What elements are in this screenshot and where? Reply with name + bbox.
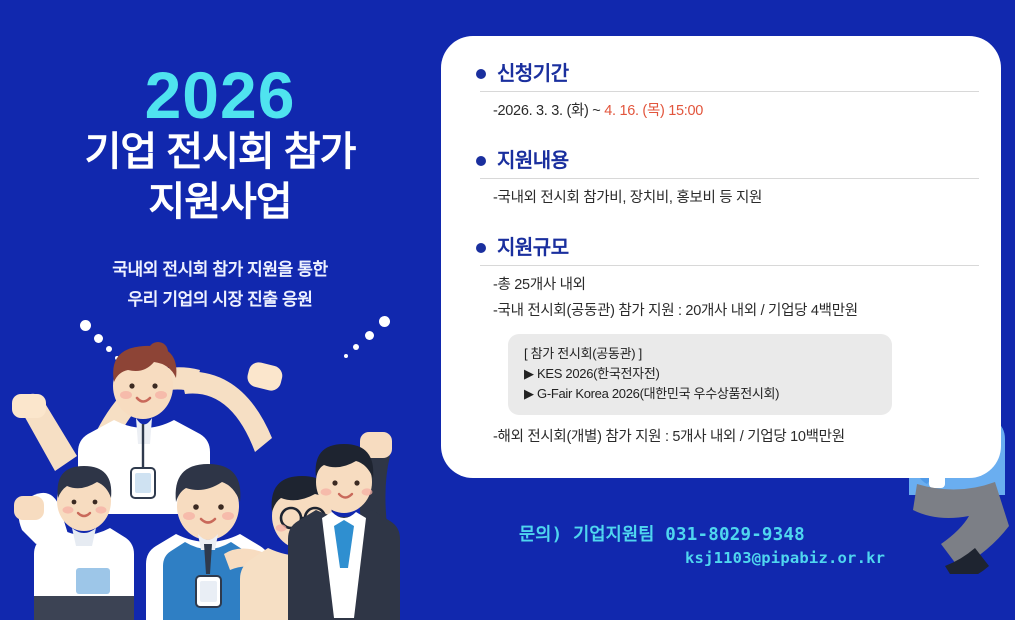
section-divider: [480, 91, 979, 92]
bullet-dot-icon: [476, 69, 486, 79]
period-deadline: 4. 16. (목) 15:00: [604, 103, 703, 119]
section-application-period: 신청기간 -2026. 3. 3. (화) ~ 4. 16. (목) 15:00: [467, 62, 979, 123]
section-header: 신청기간: [467, 62, 979, 86]
exhibition-list-title: [ 참가 전시회(공동관) ]: [524, 344, 876, 364]
section-header: 지원내용: [467, 149, 979, 173]
headline-line-2: 지원사업: [0, 178, 440, 228]
headline-line-1: 기업 전시회 참가: [0, 128, 440, 178]
contact-phone: 문의) 기업지원팀 031-8029-9348: [519, 524, 989, 548]
cheering-team-illustration: [10, 320, 440, 620]
section-divider: [480, 265, 979, 266]
exhibition-list-item: ▶ KES 2026(한국전자전): [524, 364, 876, 384]
section-title: 지원규모: [497, 236, 569, 260]
left-column: 2026 기업 전시회 참가 지원사업 국내외 전시회 참가 지원을 통한 우리…: [0, 0, 440, 620]
section-support-scale: 지원규모 -총 25개사 내외 -국내 전시회(공동관) 참가 지원 : 20개…: [467, 236, 979, 450]
poster-root: 2026 기업 전시회 참가 지원사업 국내외 전시회 참가 지원을 통한 우리…: [0, 0, 1015, 620]
exhibition-list-item: ▶ G-Fair Korea 2026(대한민국 우수상품전시회): [524, 384, 876, 404]
section-divider: [480, 178, 979, 179]
contact-email[interactable]: ksj1103@pipabiz.or.kr: [519, 548, 989, 569]
period-prefix: -2026. 3. 3. (화) ~: [493, 103, 604, 119]
section-title: 지원내용: [497, 149, 569, 173]
bullet-dot-icon: [476, 156, 486, 166]
subtitle-line-2: 우리 기업의 시장 진출 응원: [0, 285, 440, 315]
section-body-line: -국내외 전시회 참가비, 장치비, 홍보비 등 지원: [493, 188, 979, 210]
info-card: 신청기간 -2026. 3. 3. (화) ~ 4. 16. (목) 15:00…: [441, 36, 1001, 478]
subtitle-line-1: 국내외 전시회 참가 지원을 통한: [0, 255, 440, 285]
section-body-line: -총 25개사 내외: [493, 275, 979, 297]
contact-block: 문의) 기업지원팀 031-8029-9348 ksj1103@pipabiz.…: [519, 524, 989, 569]
page-title-headline: 기업 전시회 참가 지원사업: [0, 128, 440, 227]
section-header: 지원규모: [467, 236, 979, 260]
section-support-contents: 지원내용 -국내외 전시회 참가비, 장치비, 홍보비 등 지원: [467, 149, 979, 210]
section-body-line: -2026. 3. 3. (화) ~ 4. 16. (목) 15:00: [493, 101, 979, 123]
section-title: 신청기간: [497, 62, 569, 86]
section-body-line: -해외 전시회(개별) 참가 지원 : 5개사 내외 / 기업당 10백만원: [493, 427, 979, 449]
subtitle-copy: 국내외 전시회 참가 지원을 통한 우리 기업의 시장 진출 응원: [0, 255, 440, 315]
exhibition-list-box: [ 참가 전시회(공동관) ] ▶ KES 2026(한국전자전) ▶ G-Fa…: [508, 334, 892, 415]
page-title-year: 2026: [0, 62, 440, 128]
section-body-line: -국내 전시회(공동관) 참가 지원 : 20개사 내외 / 기업당 4백만원: [493, 301, 979, 323]
info-card-content: 신청기간 -2026. 3. 3. (화) ~ 4. 16. (목) 15:00…: [467, 62, 979, 453]
bullet-dot-icon: [476, 243, 486, 253]
